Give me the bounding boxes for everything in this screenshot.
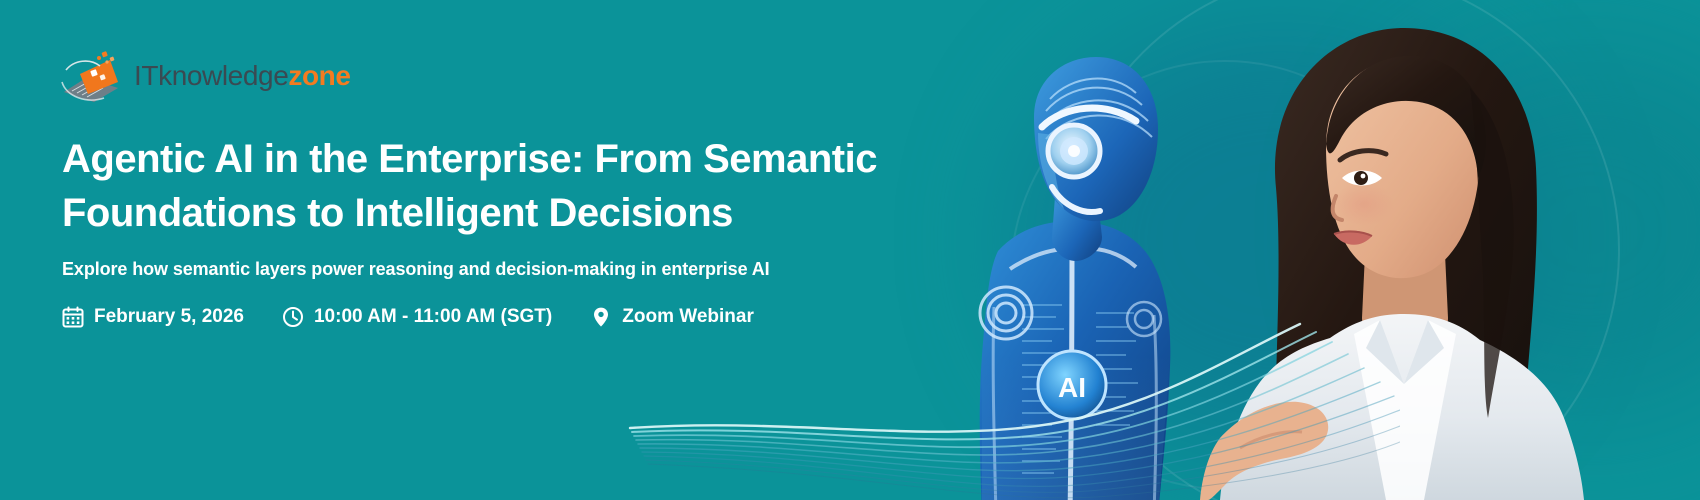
- laptop-logo-icon: [60, 48, 126, 104]
- location-pin-icon: [590, 306, 612, 328]
- headline-line-2: Foundations to Intelligent Decisions: [62, 191, 733, 235]
- brand-word-zone: zone: [288, 60, 350, 91]
- event-meta-row: February 5, 2026 10:00 AM - 11:00 AM (SG…: [62, 306, 962, 328]
- calendar-icon: [62, 306, 84, 328]
- page-subtitle: Explore how semantic layers power reason…: [62, 259, 962, 280]
- event-location: Zoom Webinar: [590, 306, 754, 328]
- event-location-label: Zoom Webinar: [622, 306, 754, 328]
- flowing-wave-lines: [600, 310, 1400, 500]
- page-title: Agentic AI in the Enterprise: From Seman…: [62, 132, 962, 240]
- event-date: February 5, 2026: [62, 306, 244, 328]
- banner-content: Agentic AI in the Enterprise: From Seman…: [62, 132, 962, 328]
- event-time: 10:00 AM - 11:00 AM (SGT): [282, 306, 552, 328]
- brand-wordmark: ITknowledgezone: [134, 60, 351, 92]
- brand-word-knowledge: knowledge: [158, 60, 288, 91]
- event-date-label: February 5, 2026: [94, 306, 244, 328]
- brand-word-it: IT: [134, 60, 158, 91]
- brand-logo[interactable]: ITknowledgezone: [60, 48, 351, 104]
- headline-line-1: Agentic AI in the Enterprise: From Seman…: [62, 137, 877, 181]
- clock-icon: [282, 306, 304, 328]
- event-time-label: 10:00 AM - 11:00 AM (SGT): [314, 306, 552, 328]
- webinar-banner: AI: [0, 0, 1700, 500]
